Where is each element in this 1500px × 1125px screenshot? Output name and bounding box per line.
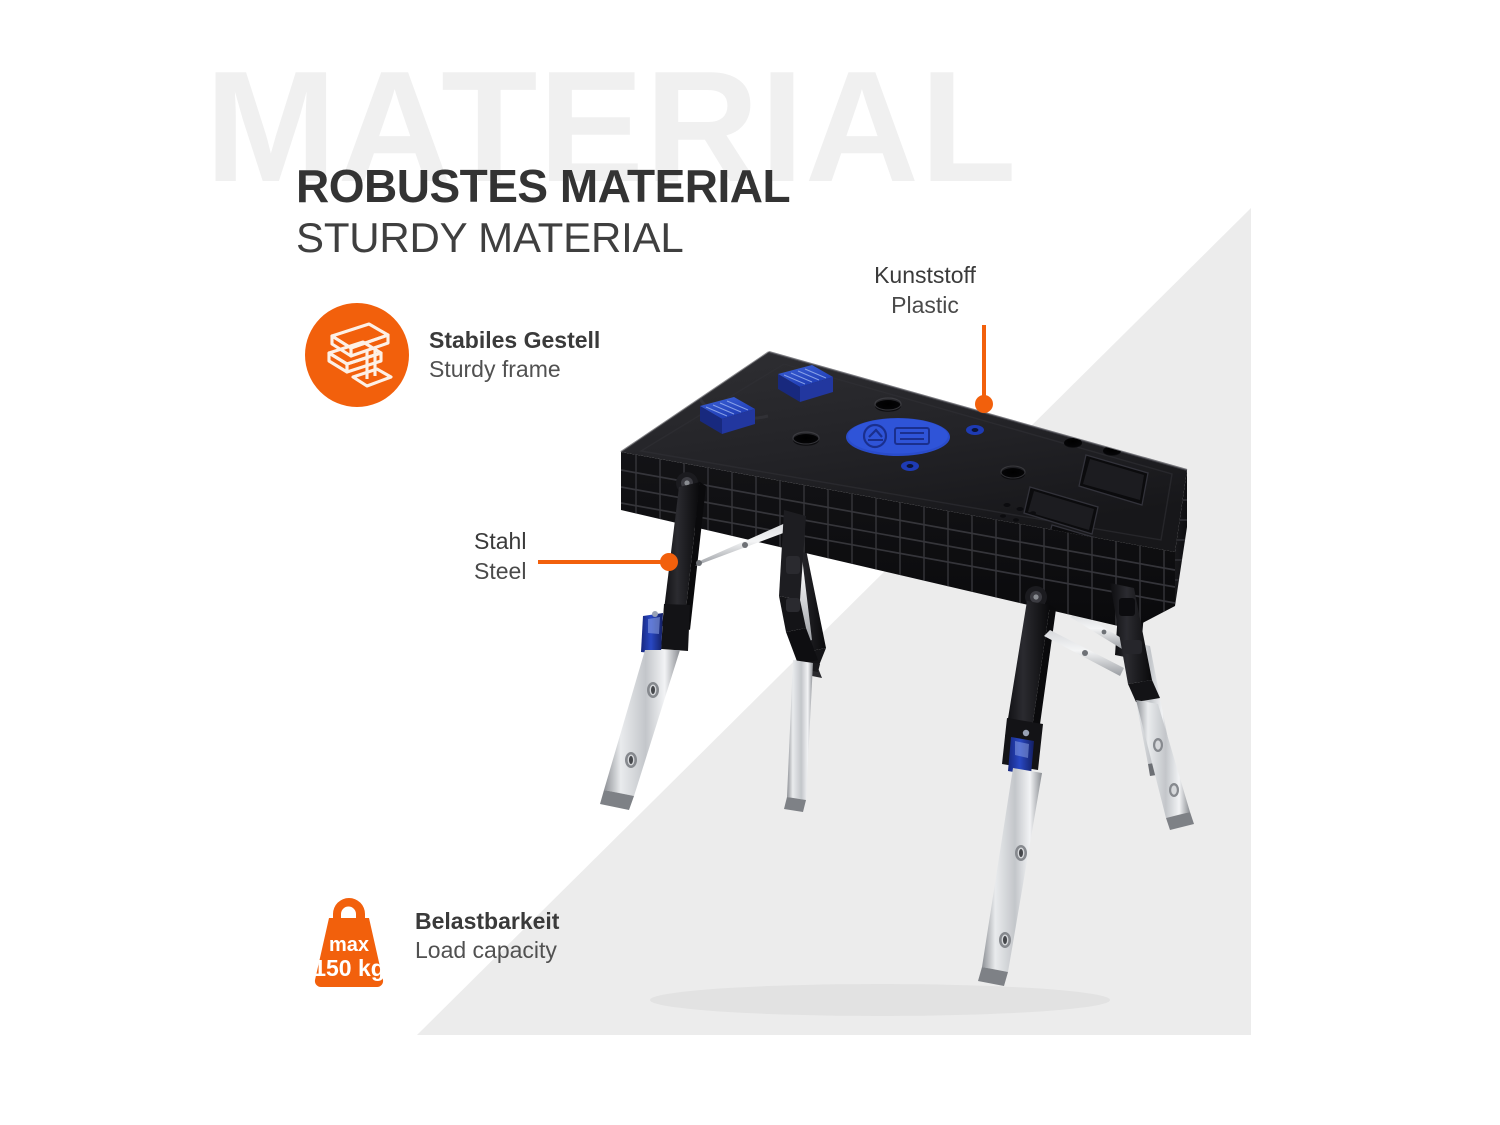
clamp-stop-block-1 (778, 365, 833, 402)
weight-icon-line1: max (329, 934, 369, 956)
leg-inner-left-steel (784, 660, 813, 812)
leg-outer-right (1110, 583, 1194, 830)
feature-sturdy-frame-label-en: Sturdy frame (429, 355, 600, 384)
page-title-en: STURDY MATERIAL (296, 217, 684, 259)
feature-sturdy-frame-text: Stabiles Gestell Sturdy frame (429, 326, 600, 385)
leader-dot-steel (660, 553, 678, 571)
leg-front-right (978, 586, 1056, 986)
feature-sturdy-frame-label-de: Stabiles Gestell (429, 326, 600, 355)
blue-inserts (901, 425, 984, 471)
weight-icon-line2: 150 kg (313, 955, 385, 981)
weight-icon: max 150 kg (303, 884, 395, 988)
clamp-stop-block-2 (700, 397, 755, 434)
feature-sturdy-frame: Stabiles Gestell Sturdy frame (305, 303, 600, 407)
dog-holes (793, 398, 1121, 480)
brace-front-left (695, 521, 812, 643)
leg-rear-right (1115, 585, 1176, 776)
brace-front-right (1044, 630, 1124, 676)
infographic-canvas: MATERIAL ROBUSTES MATERIAL STURDY MATERI… (0, 0, 1500, 1125)
steel-beam-icon (305, 303, 409, 407)
leg-lock-clip-left (641, 611, 663, 654)
leg-lock-clip-right (1008, 730, 1034, 775)
page-title-de: ROBUSTES MATERIAL (296, 163, 790, 209)
callout-plastic-label-en: Plastic (874, 291, 976, 321)
feature-load-capacity-text: Belastbarkeit Load capacity (415, 907, 559, 966)
feature-load-capacity: max 150 kg Belastbarkeit Load capacity (303, 884, 559, 988)
leg-rear-left (778, 516, 826, 678)
tabletop (621, 352, 1192, 640)
callout-steel-label-en: Steel (474, 557, 526, 587)
pilot-holes (1000, 503, 1036, 522)
strut-inner-left (779, 510, 818, 664)
callout-steel-label-de: Stahl (474, 527, 526, 557)
tool-trays (1024, 455, 1148, 560)
leg-front-left (600, 472, 706, 810)
feature-load-capacity-label-de: Belastbarkeit (415, 907, 559, 936)
leader-dot-plastic (975, 395, 993, 413)
brace-rear-right (1070, 612, 1128, 649)
brand-logo-badge (846, 418, 950, 456)
callout-plastic-label-de: Kunststoff (874, 261, 976, 291)
feature-load-capacity-label-en: Load capacity (415, 936, 559, 965)
